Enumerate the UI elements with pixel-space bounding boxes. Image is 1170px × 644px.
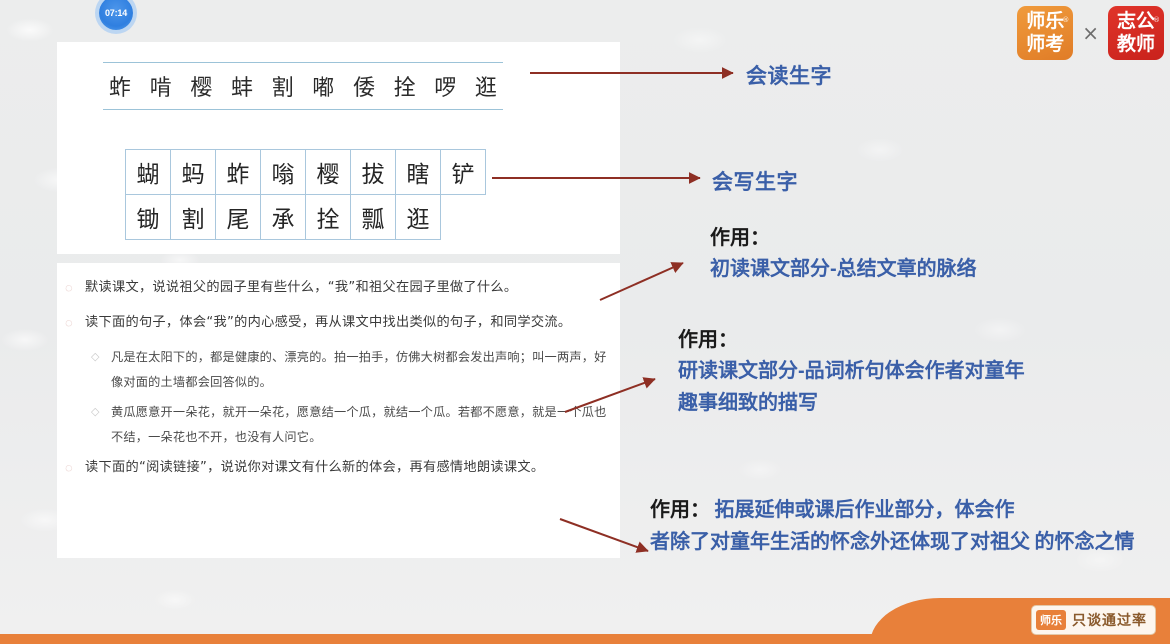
write-cell: 瓢 — [350, 194, 396, 240]
watermark-slogan: 只谈通过率 — [1072, 610, 1147, 630]
write-cell: 拴 — [305, 194, 351, 240]
exercise-sub-item: ◇ 凡是在太阳下的，都是健康的、漂亮的。拍一拍手，仿佛大树都会发出声响；叫一两声… — [91, 345, 615, 395]
write-grid-row-1: 蝴 蚂 蚱 嗡 樱 拔 瞎 铲 — [125, 149, 485, 194]
annotation-body: 初读课文部分-总结文章的脉络 — [710, 253, 1140, 285]
brand-left-line1: 师乐 — [1026, 10, 1064, 33]
annotation-block-extension: 作用： 拓展延伸或课后作业部分，体会作 者除了对童年生活的怀念外还体现了对祖父 … — [650, 494, 1150, 558]
write-cell: 拔 — [350, 149, 396, 195]
read-char: 啰 — [434, 70, 456, 102]
annotation-label: 作用： — [678, 325, 1138, 355]
read-char: 嘟 — [312, 70, 334, 102]
read-char: 拴 — [394, 70, 416, 102]
write-cell: 逛 — [395, 194, 441, 240]
exercise-sub-text: 凡是在太阳下的，都是健康的、漂亮的。拍一拍手，仿佛大树都会发出声响；叫一两声，好… — [111, 345, 615, 395]
write-cell: 樱 — [305, 149, 351, 195]
annotation-read-characters: 会读生字 — [746, 60, 832, 90]
exercise-bullet-icon: ◌ — [63, 455, 85, 481]
write-cell: 铲 — [440, 149, 486, 195]
write-cell: 蚂 — [170, 149, 216, 195]
registered-mark-icon-2: ® — [1153, 9, 1160, 32]
timer-value: 07:14 — [105, 8, 127, 18]
write-grid-row-2: 锄 割 尾 承 拴 瓢 逛 — [125, 194, 485, 239]
brand-right-line1: 志公 — [1117, 10, 1155, 33]
read-characters-row: 蚱 啃 樱 蚌 割 嘟 倭 拴 啰 逛 — [103, 62, 503, 110]
read-char: 蚱 — [109, 70, 131, 102]
write-cell: 锄 — [125, 194, 171, 240]
write-cell: 蚱 — [215, 149, 261, 195]
exercise-bullet-icon: ◌ — [63, 310, 85, 336]
exercise-sub-text: 黄瓜愿意开一朵花，就开一朵花，愿意结一个瓜，就结一个瓜。若都不愿意，就是一个瓜也… — [111, 400, 615, 450]
annotation-body-line2: 者除了对童年生活的怀念外还体现了对祖父 — [650, 531, 1030, 553]
brand-right-line2: 教师 — [1117, 33, 1155, 56]
brand-logo: ® 师乐 师考 × ® 志公 教师 — [1017, 3, 1164, 63]
read-char: 蚌 — [231, 70, 253, 102]
write-characters-grid: 蝴 蚂 蚱 嗡 樱 拔 瞎 铲 锄 割 尾 承 拴 瓢 逛 — [125, 149, 485, 239]
exercise-item: ◌ 读下面的句子，体会“我”的内心感受，再从课文中找出类似的句子，和同学交流。 — [63, 310, 615, 336]
brand-left-line2: 师考 — [1026, 33, 1064, 56]
annotation-block-deep-reading: 作用： 研读课文部分-品词析句体会作者对童年 趣事细致的描写 — [678, 325, 1138, 419]
read-char: 倭 — [353, 70, 375, 102]
slide-canvas: 07:14 ® 师乐 师考 × ® 志公 教师 蚱 啃 樱 蚌 割 嘟 倭 拴 … — [0, 0, 1170, 644]
annotation-label: 作用： — [710, 223, 1140, 253]
read-char: 啃 — [150, 70, 172, 102]
brand-logo-shile: ® 师乐 师考 — [1017, 6, 1073, 60]
annotation-line-1: 作用： 拓展延伸或课后作业部分，体会作 — [650, 494, 1150, 526]
exercise-sub-list: ◇ 凡是在太阳下的，都是健康的、漂亮的。拍一拍手，仿佛大树都会发出声响；叫一两声… — [91, 345, 615, 450]
annotation-block-first-reading: 作用： 初读课文部分-总结文章的脉络 — [710, 223, 1140, 285]
write-cell: 蝴 — [125, 149, 171, 195]
annotation-body-line1: 研读课文部分-品词析句体会作者对童年 — [678, 355, 1138, 387]
exercise-item: ◌ 默读课文，说说祖父的园子里有些什么，“我”和祖父在园子里做了什么。 — [63, 275, 615, 301]
exercise-text: 默读课文，说说祖父的园子里有些什么，“我”和祖父在园子里做了什么。 — [85, 275, 615, 301]
read-char: 逛 — [475, 70, 497, 102]
write-cell: 瞎 — [395, 149, 441, 195]
exercise-bullet-icon: ◌ — [63, 275, 85, 301]
exercise-sub-item: ◇ 黄瓜愿意开一朵花，就开一朵花，愿意结一个瓜，就结一个瓜。若都不愿意，就是一个… — [91, 400, 615, 450]
brand-logo-zhigong: ® 志公 教师 — [1108, 6, 1164, 60]
annotation-write-characters: 会写生字 — [712, 166, 798, 196]
read-char: 樱 — [190, 70, 212, 102]
diamond-bullet-icon: ◇ — [91, 345, 111, 395]
read-char: 割 — [272, 70, 294, 102]
brand-separator-icon: × — [1082, 21, 1099, 45]
registered-mark-icon: ® — [1062, 9, 1069, 32]
annotation-body-line3: 的怀念之情 — [1034, 531, 1134, 553]
annotation-label: 作用： — [650, 499, 710, 521]
write-cell: 承 — [260, 194, 306, 240]
write-cell: 尾 — [215, 194, 261, 240]
watermark-brand-badge: 师乐 — [1036, 610, 1066, 630]
exercise-list: ◌ 默读课文，说说祖父的园子里有些什么，“我”和祖父在园子里做了什么。 ◌ 读下… — [63, 275, 615, 490]
exercise-item: ◌ 读下面的“阅读链接”，说说你对课文有什么新的体会，再有感情地朗读课文。 — [63, 455, 615, 481]
bottom-accent-bar — [0, 634, 1170, 644]
write-cell: 割 — [170, 194, 216, 240]
write-cell: 嗡 — [260, 149, 306, 195]
watermark-badge: 师乐 只谈通过率 — [1031, 605, 1156, 635]
exercise-text: 读下面的“阅读链接”，说说你对课文有什么新的体会，再有感情地朗读课文。 — [85, 455, 615, 481]
exercise-text: 读下面的句子，体会“我”的内心感受，再从课文中找出类似的句子，和同学交流。 — [85, 310, 615, 336]
timer-badge: 07:14 — [99, 0, 133, 30]
diamond-bullet-icon: ◇ — [91, 400, 111, 450]
annotation-body-line2: 趣事细致的描写 — [678, 387, 1138, 419]
annotation-body-line1: 拓展延伸或课后作业部分，体会作 — [714, 499, 1014, 521]
